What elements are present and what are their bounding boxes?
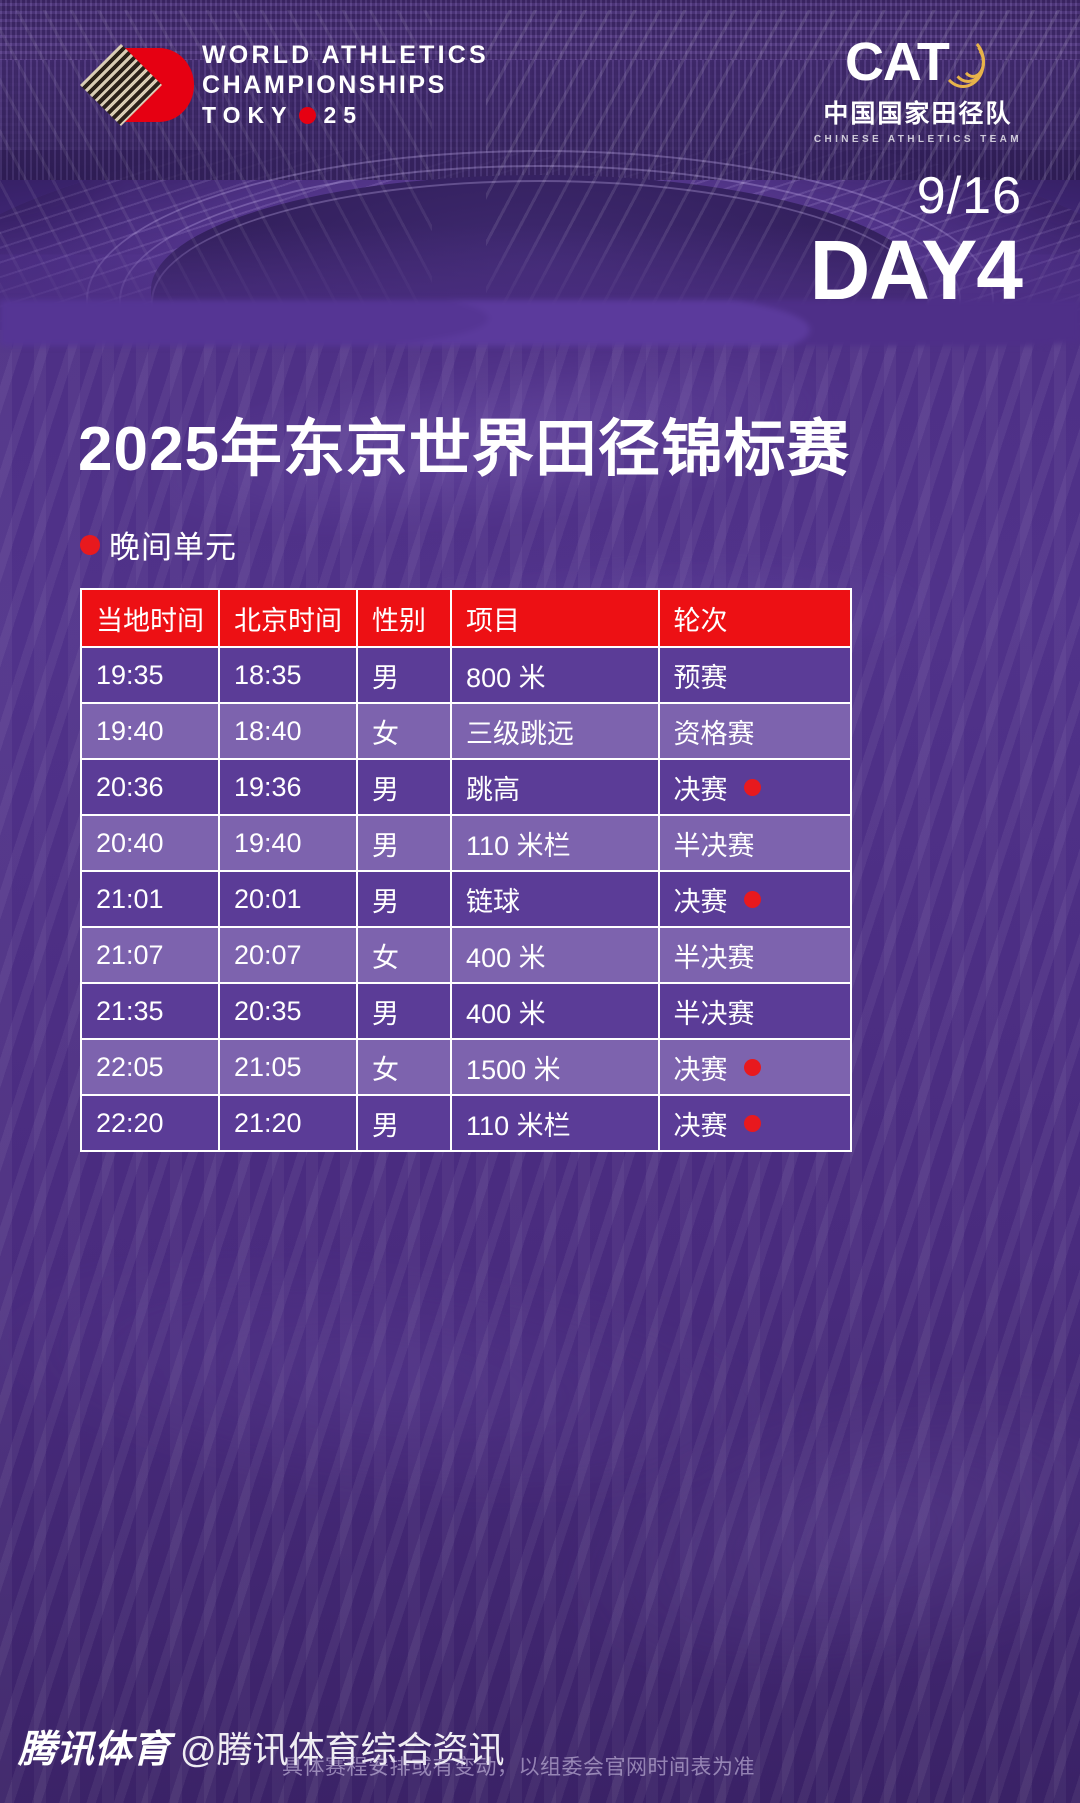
table-row: 21:3520:35男400 米半决赛	[81, 983, 851, 1039]
cell-event: 链球	[451, 871, 658, 927]
cell-beijing-time: 18:40	[219, 703, 357, 759]
round-label: 决赛	[674, 880, 728, 919]
cell-gender: 女	[357, 927, 451, 983]
table-row: 20:3619:36男跳高决赛	[81, 759, 851, 815]
cell-round: 决赛	[659, 1095, 851, 1151]
wa-line-world-athletics: WORLD ATHLETICS	[202, 43, 489, 68]
cell-local-time: 22:05	[81, 1039, 219, 1095]
table-row: 19:3518:35男800 米预赛	[81, 647, 851, 703]
cell-beijing-time: 19:36	[219, 759, 357, 815]
cell-local-time: 21:01	[81, 871, 219, 927]
round-label: 决赛	[674, 1104, 728, 1143]
cell-round: 决赛	[659, 1039, 851, 1095]
wa-line-championships: CHAMPIONSHIPS	[202, 73, 489, 98]
footer: 腾讯体育 @腾讯体育综合资讯 具体赛程安排或有变动，以组委会官网时间表为准	[0, 1698, 1080, 1803]
session-bullet-icon	[80, 535, 100, 555]
cell-event: 三级跳远	[451, 703, 658, 759]
round-cell-content: 半决赛	[674, 992, 836, 1031]
cell-beijing-time: 20:01	[219, 871, 357, 927]
round-cell-content: 决赛	[674, 1104, 836, 1143]
cell-local-time: 20:40	[81, 815, 219, 871]
cell-local-time: 19:35	[81, 647, 219, 703]
cell-round: 预赛	[659, 647, 851, 703]
world-athletics-mark-icon	[80, 38, 188, 132]
cell-round: 决赛	[659, 759, 851, 815]
cell-event: 1500 米	[451, 1039, 658, 1095]
final-medal-dot-icon	[744, 1059, 761, 1076]
round-cell-content: 决赛	[674, 880, 836, 919]
chinese-athletics-team-logo: CAT 中国国家田径队 CHINESE ATHLETICS TEAM	[814, 32, 1022, 145]
cell-round: 资格赛	[659, 703, 851, 759]
table-row: 21:0720:07女400 米半决赛	[81, 927, 851, 983]
cell-gender: 女	[357, 1039, 451, 1095]
cell-beijing-time: 18:35	[219, 647, 357, 703]
cell-event: 400 米	[451, 983, 658, 1039]
session-label: 晚间单元	[80, 522, 237, 567]
round-cell-content: 决赛	[674, 1048, 836, 1087]
cell-gender: 男	[357, 815, 451, 871]
table-row: 21:0120:01男链球决赛	[81, 871, 851, 927]
schedule-table-header: 当地时间 北京时间 性别 项目 轮次	[81, 589, 851, 647]
cat-acronym-row: CAT	[814, 32, 1022, 92]
cell-round: 半决赛	[659, 927, 851, 983]
cat-chinese-name: 中国国家田径队	[814, 94, 1022, 130]
round-label: 预赛	[674, 656, 728, 695]
session-label-text: 晚间单元	[109, 522, 237, 567]
cell-gender: 女	[357, 703, 451, 759]
cell-event: 跳高	[451, 759, 658, 815]
cell-beijing-time: 21:20	[219, 1095, 357, 1151]
column-header-round: 轮次	[659, 589, 851, 647]
schedule-table-body: 19:3518:35男800 米预赛19:4018:40女三级跳远资格赛20:3…	[81, 647, 851, 1151]
cell-gender: 男	[357, 1095, 451, 1151]
cell-local-time: 19:40	[81, 703, 219, 759]
cell-local-time: 22:20	[81, 1095, 219, 1151]
final-medal-dot-icon	[744, 1115, 761, 1132]
cell-beijing-time: 20:07	[219, 927, 357, 983]
round-cell-content: 预赛	[674, 656, 836, 695]
schedule-table: 当地时间 北京时间 性别 项目 轮次 19:3518:35男800 米预赛19:…	[80, 588, 852, 1152]
table-row: 22:0521:05女1500 米决赛	[81, 1039, 851, 1095]
round-label: 决赛	[674, 768, 728, 807]
round-cell-content: 半决赛	[674, 824, 836, 863]
wa-tokyo-text: TOKY	[202, 104, 293, 127]
cell-gender: 男	[357, 647, 451, 703]
red-dot-icon	[299, 107, 316, 124]
wa-year-text: 25	[323, 104, 363, 127]
table-header-row: 当地时间 北京时间 性别 项目 轮次	[81, 589, 851, 647]
cell-beijing-time: 19:40	[219, 815, 357, 871]
cell-local-time: 21:07	[81, 927, 219, 983]
round-cell-content: 半决赛	[674, 936, 836, 975]
round-label: 半决赛	[674, 936, 755, 975]
world-athletics-wordmark: WORLD ATHLETICS CHAMPIONSHIPS TOKY 25	[202, 43, 489, 127]
cat-acronym-text: CAT	[845, 31, 949, 93]
date-block: 9/16 DAY4	[810, 170, 1022, 312]
wa-line-tokyo25: TOKY 25	[202, 104, 489, 127]
table-row: 20:4019:40男110 米栏半决赛	[81, 815, 851, 871]
date-numeric: 9/16	[810, 170, 1022, 222]
cell-round: 半决赛	[659, 815, 851, 871]
cell-event: 110 米栏	[451, 1095, 658, 1151]
page-title: 2025年东京世界田径锦标赛	[78, 398, 850, 488]
column-header-beijing-time: 北京时间	[219, 589, 357, 647]
footer-disclaimer: 具体赛程安排或有变动，以组委会官网时间表为准	[282, 1751, 755, 1781]
cell-event: 800 米	[451, 647, 658, 703]
world-athletics-logo: WORLD ATHLETICS CHAMPIONSHIPS TOKY 25	[80, 38, 489, 132]
cell-event: 110 米栏	[451, 815, 658, 871]
day-label: DAY4	[810, 228, 1022, 312]
round-cell-content: 决赛	[674, 768, 836, 807]
final-medal-dot-icon	[744, 891, 761, 908]
round-label: 资格赛	[674, 712, 755, 751]
column-header-local-time: 当地时间	[81, 589, 219, 647]
cat-english-name: CHINESE ATHLETICS TEAM	[814, 134, 1022, 145]
cell-gender: 男	[357, 759, 451, 815]
column-header-gender: 性别	[357, 589, 451, 647]
cell-beijing-time: 20:35	[219, 983, 357, 1039]
cell-beijing-time: 21:05	[219, 1039, 357, 1095]
round-label: 半决赛	[674, 992, 755, 1031]
cell-round: 决赛	[659, 871, 851, 927]
cell-local-time: 21:35	[81, 983, 219, 1039]
cell-gender: 男	[357, 983, 451, 1039]
round-label: 决赛	[674, 1048, 728, 1087]
cell-round: 半决赛	[659, 983, 851, 1039]
round-label: 半决赛	[674, 824, 755, 863]
cell-local-time: 20:36	[81, 759, 219, 815]
cell-gender: 男	[357, 871, 451, 927]
table-row: 19:4018:40女三级跳远资格赛	[81, 703, 851, 759]
cell-event: 400 米	[451, 927, 658, 983]
final-medal-dot-icon	[744, 779, 761, 796]
round-cell-content: 资格赛	[674, 712, 836, 751]
table-row: 22:2021:20男110 米栏决赛	[81, 1095, 851, 1151]
cat-golden-arcs-icon	[939, 33, 991, 91]
column-header-event: 项目	[451, 589, 658, 647]
footer-brand-name: 腾讯体育	[18, 1718, 170, 1773]
